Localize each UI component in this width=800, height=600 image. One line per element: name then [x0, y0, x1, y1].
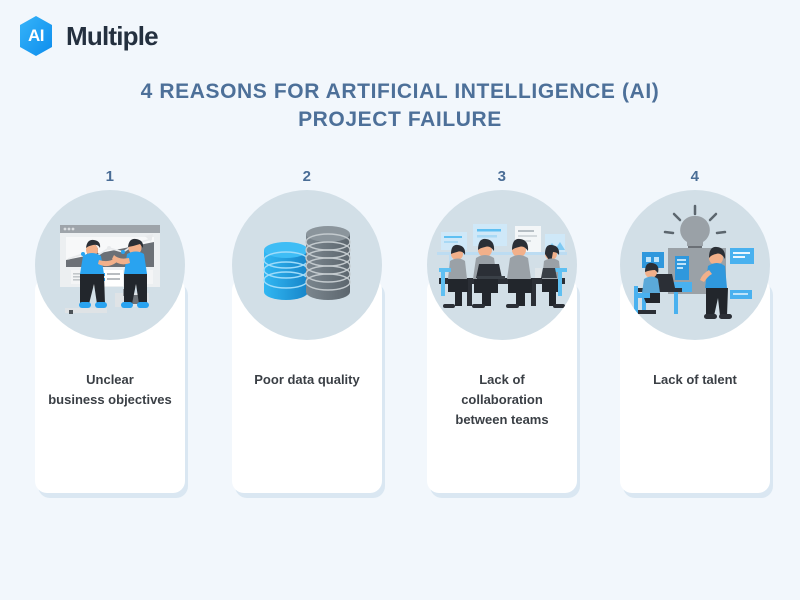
reason-column-1: 1 Unclear business objectives	[20, 0, 200, 600]
reason-illustration-circle-4	[620, 190, 770, 340]
team-meeting-table-icon	[427, 190, 577, 340]
reason-label-1: Unclear business objectives	[41, 370, 179, 410]
reason-illustration-circle-1	[35, 190, 185, 340]
logo-hex-text: AI	[28, 26, 44, 46]
presenter-lightbulb-icon	[620, 190, 770, 340]
reason-column-4: 4 Lack of talent	[605, 0, 785, 600]
reasons-row: 1 Unclear business objectives	[0, 0, 800, 600]
reason-column-2: 2 Poor data quality	[217, 0, 397, 600]
infographic-page: AI Multiple 4 Reasons for Artificial Int…	[0, 0, 800, 600]
reason-label-2: Poor data quality	[238, 370, 376, 390]
reason-number-3: 3	[412, 168, 592, 185]
reason-illustration-circle-2	[232, 190, 382, 340]
reason-number-4: 4	[605, 168, 785, 185]
reason-label-4: Lack of talent	[626, 370, 764, 390]
reason-label-3: Lack of collaboration between teams	[433, 370, 571, 430]
reason-column-3: 3 Lack of collaboration between teams	[412, 0, 592, 600]
reason-number-1: 1	[20, 168, 200, 185]
reason-number-2: 2	[217, 168, 397, 185]
database-stacks-icon	[232, 190, 382, 340]
people-dashboard-chart-icon	[35, 190, 185, 340]
reason-illustration-circle-3	[427, 190, 577, 340]
